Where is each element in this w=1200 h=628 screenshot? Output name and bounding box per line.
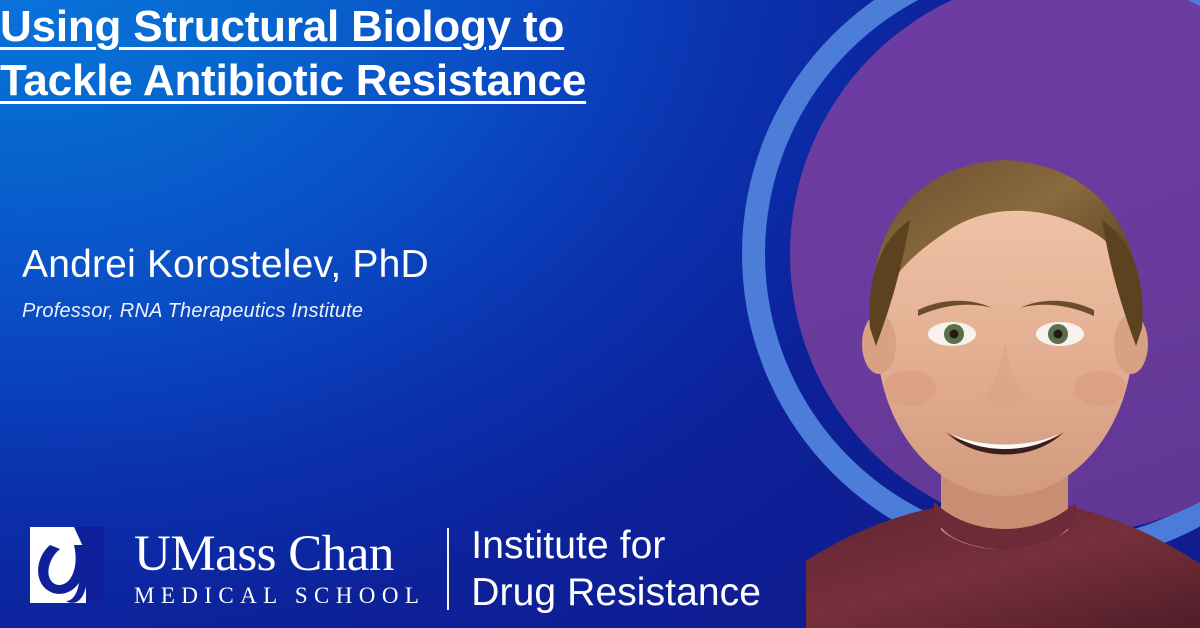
event-promo-banner: Using Structural Biology to Tackle Antib… [0, 0, 1200, 628]
institute-for-drug-resistance-logo: Institute for Drug Resistance [449, 522, 761, 616]
logo-lockup: UMass Chan MEDICAL SCHOOL Institute for … [28, 522, 761, 616]
talk-title-line-1: Using Structural Biology to [0, 0, 1200, 54]
presenter-portrait [806, 120, 1200, 628]
presenter-role: Professor, RNA Therapeutics Institute [22, 298, 722, 324]
umass-wordmark: UMass Chan MEDICAL SCHOOL [134, 527, 425, 611]
umass-chan-logo: UMass Chan MEDICAL SCHOOL [28, 522, 447, 616]
institute-line-1: Institute for [471, 522, 761, 569]
talk-title-line-2: Tackle Antibiotic Resistance [0, 54, 1200, 108]
institute-line-2: Drug Resistance [471, 569, 761, 616]
umass-school-subtitle: MEDICAL SCHOOL [134, 583, 425, 609]
presenter-name: Andrei Korostelev, PhD [22, 242, 722, 288]
talk-title: Using Structural Biology to Tackle Antib… [0, 0, 1200, 108]
umass-school-name: UMass Chan [134, 527, 425, 581]
vertical-divider [447, 528, 449, 610]
umass-u-monogram-icon [28, 523, 120, 615]
presenter-block: Andrei Korostelev, PhD Professor, RNA Th… [22, 242, 722, 324]
